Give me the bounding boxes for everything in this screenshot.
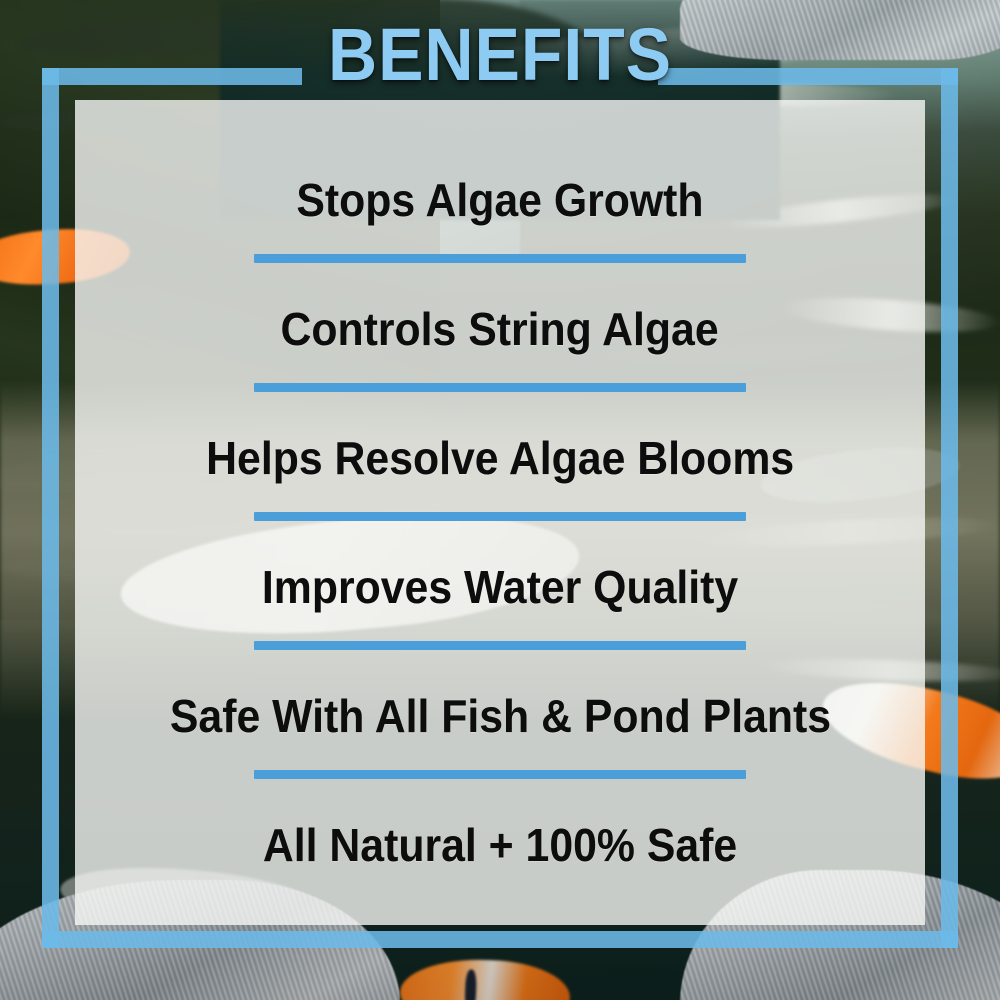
- benefit-row: Helps Resolve Algae Blooms: [75, 394, 925, 523]
- benefit-row: Safe With All Fish & Pond Plants: [75, 652, 925, 781]
- benefit-row: All Natural + 100% Safe: [75, 781, 925, 910]
- frame-left-bar: [42, 68, 59, 948]
- row-divider: [254, 512, 746, 521]
- page-title: BENEFITS: [40, 18, 960, 92]
- benefit-row: Improves Water Quality: [75, 523, 925, 652]
- benefit-label: Helps Resolve Algae Blooms: [206, 434, 794, 482]
- benefits-list: Stops Algae Growth Controls String Algae…: [75, 136, 925, 910]
- benefit-label: Stops Algae Growth: [296, 176, 703, 224]
- benefit-label: Controls String Algae: [281, 305, 719, 353]
- benefit-row: Stops Algae Growth: [75, 136, 925, 265]
- benefit-row: Controls String Algae: [75, 265, 925, 394]
- row-divider: [254, 383, 746, 392]
- frame-bottom-bar: [42, 931, 958, 948]
- frame-right-bar: [941, 68, 958, 948]
- row-divider: [254, 254, 746, 263]
- benefit-label: All Natural + 100% Safe: [263, 821, 737, 869]
- benefit-label: Improves Water Quality: [262, 563, 738, 611]
- row-divider: [254, 770, 746, 779]
- row-divider: [254, 641, 746, 650]
- benefits-infographic: BENEFITS Stops Algae Growth Controls Str…: [0, 0, 1000, 1000]
- benefit-label: Safe With All Fish & Pond Plants: [169, 692, 830, 740]
